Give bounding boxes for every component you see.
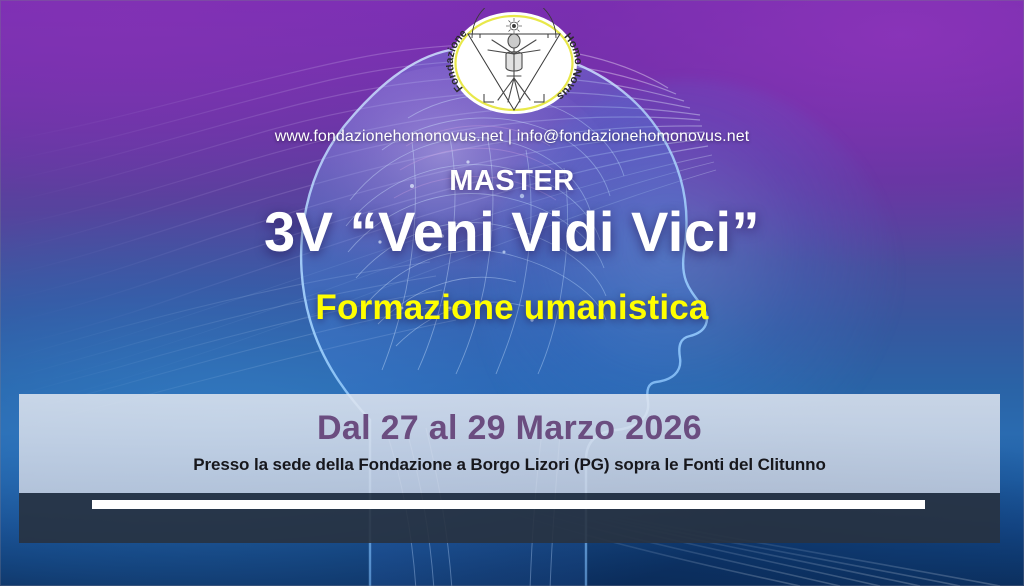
page-title: 3V “Veni Vidi Vici” xyxy=(0,203,1024,262)
event-venue: Presso la sede della Fondazione a Borgo … xyxy=(19,455,1000,475)
contact-line: www.fondazionehomonovus.net | info@fonda… xyxy=(0,128,1024,146)
event-date: Dal 27 al 29 Marzo 2026 xyxy=(19,409,1000,448)
logo-svg: Fondazione Homo Novus xyxy=(446,8,582,118)
fondazione-homo-novus-logo: Fondazione Homo Novus xyxy=(446,8,582,118)
footer-white-rule xyxy=(92,500,925,509)
poster-canvas: Fondazione Homo Novus www.fondazionehomo… xyxy=(0,0,1024,586)
eyebrow-master: MASTER xyxy=(0,165,1024,198)
subtitle: Formazione umanistica xyxy=(0,288,1024,328)
info-panel: Dal 27 al 29 Marzo 2026 Presso la sede d… xyxy=(19,394,1000,493)
